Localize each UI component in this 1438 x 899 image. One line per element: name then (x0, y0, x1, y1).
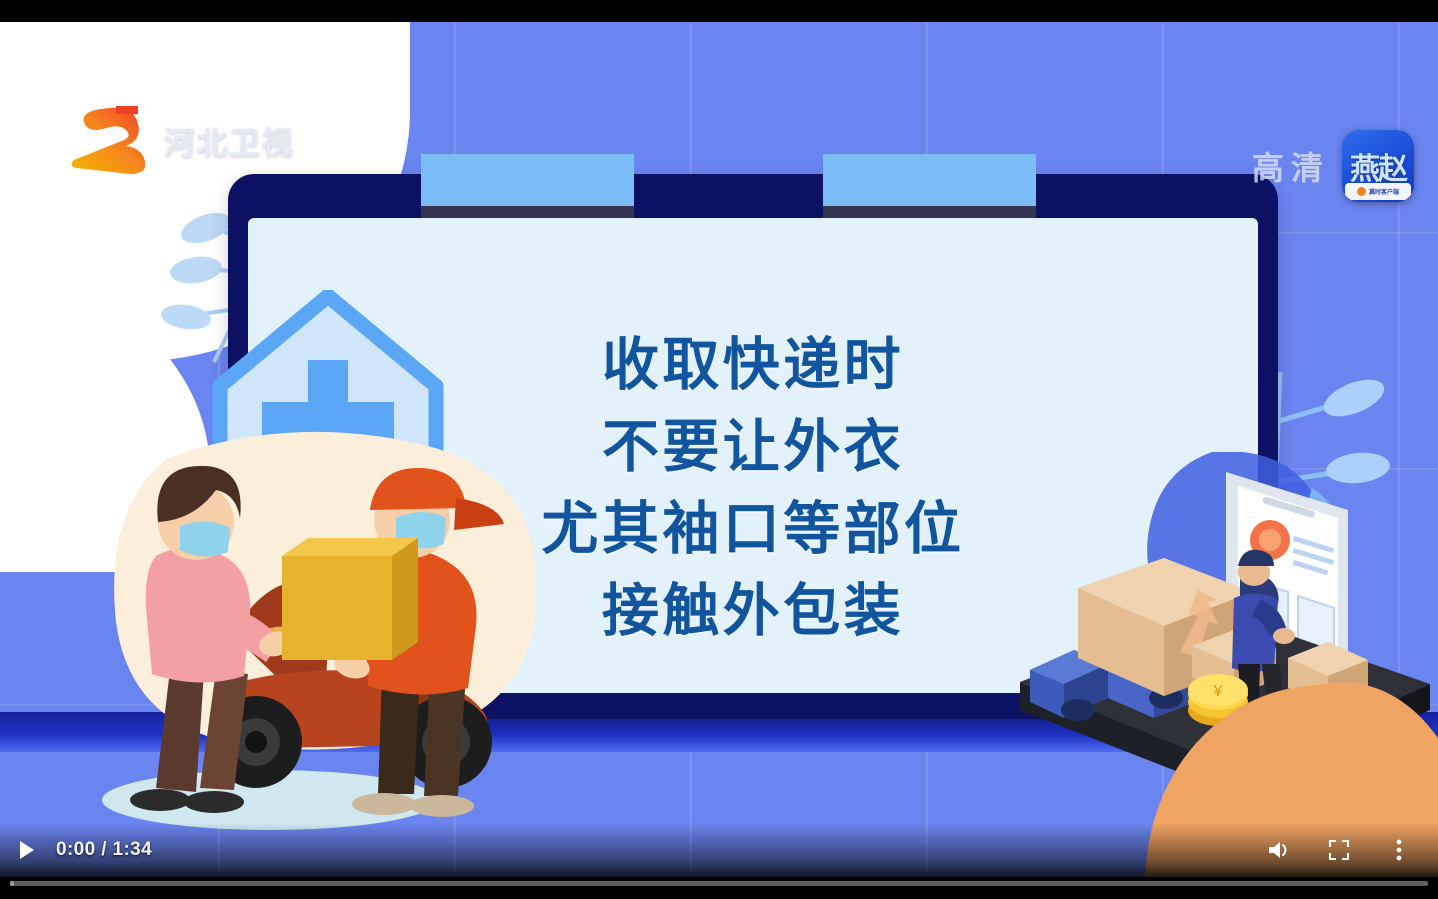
play-button[interactable] (14, 837, 40, 863)
play-icon (18, 840, 36, 860)
quality-badge-label: 高清 (1252, 143, 1330, 189)
controls-right-group (1266, 837, 1424, 863)
progress-fill (10, 881, 14, 886)
card-tab-1-top (421, 154, 634, 206)
courier-handing-parcel-scene (60, 422, 560, 842)
app-icon-ribbon-label: 冀时客户端 (1369, 187, 1399, 196)
controls-left-group: 0:00 / 1:34 (14, 837, 152, 863)
expand-icon (1328, 839, 1350, 861)
player-controls[interactable]: 0:00 / 1:34 (0, 823, 1438, 877)
app-icon-ribbon: 冀时客户端 (1345, 183, 1411, 200)
volume-on-icon (1267, 839, 1291, 861)
more-options-button[interactable] (1386, 837, 1412, 863)
quality-badge: 高清 燕赵 冀时客户端 (1252, 130, 1414, 202)
video-stage[interactable]: 收取快递时 不要让外衣 尤其袖口等部位 接触外包装 (0, 22, 1438, 877)
app-icon-ribbon-dot (1357, 187, 1366, 196)
channel-logo: 河北卫视 (70, 104, 294, 176)
svg-text:¥: ¥ (1213, 683, 1223, 700)
fullscreen-button[interactable] (1326, 837, 1352, 863)
hebei-tv-swoosh-icon (70, 104, 154, 176)
letterbox-top (0, 0, 1438, 22)
card-tab-2-top (823, 154, 1036, 206)
volume-button[interactable] (1266, 837, 1292, 863)
time-display: 0:00 / 1:34 (56, 839, 152, 861)
more-vertical-icon (1396, 839, 1402, 861)
video-player[interactable]: 收取快递时 不要让外衣 尤其袖口等部位 接触外包装 (0, 0, 1438, 899)
app-icon: 燕赵 冀时客户端 (1342, 130, 1414, 202)
channel-logo-label: 河北卫视 (164, 118, 294, 163)
progress-scrubber[interactable] (10, 881, 1428, 886)
